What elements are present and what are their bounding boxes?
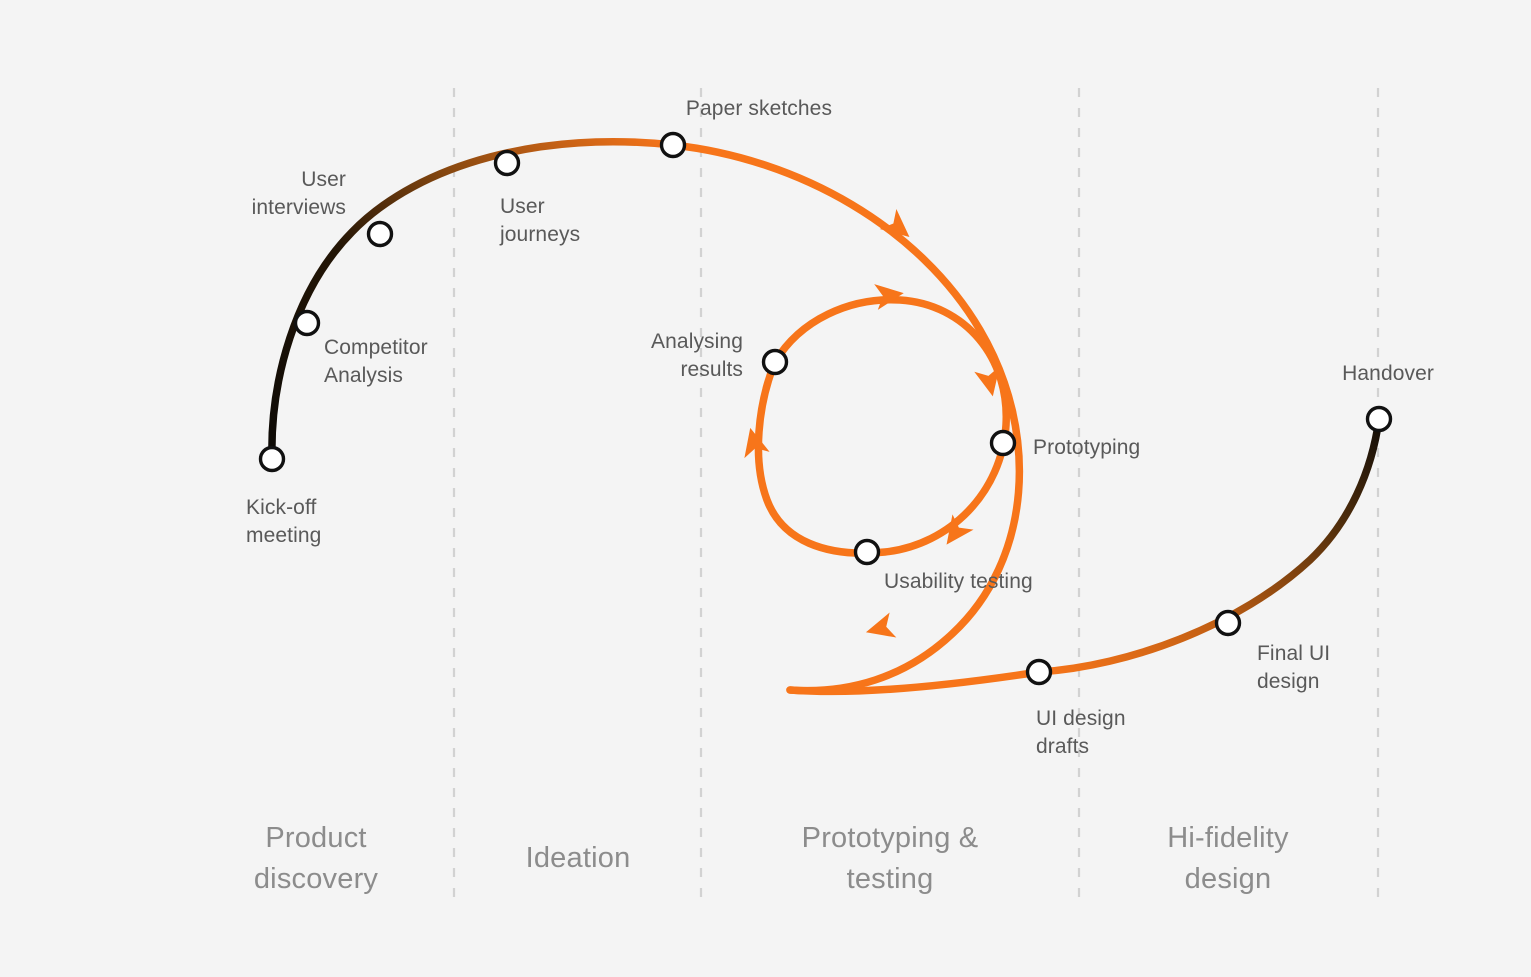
design-process-spiral-diagram: User interviews Competitor Analysis Kick… xyxy=(0,0,1531,977)
node-label-kick-off-meeting: Kick-off meeting xyxy=(246,494,321,550)
arrowhead-icon xyxy=(738,425,770,458)
spiral-segment-outer-lower xyxy=(790,672,1039,691)
node-user-interviews[interactable] xyxy=(369,223,392,246)
spiral-path-group xyxy=(272,142,1379,692)
phase-label-product-discovery: Product discovery xyxy=(254,818,378,900)
node-final-ui-design[interactable] xyxy=(1217,612,1240,635)
node-competitor-analysis[interactable] xyxy=(296,312,319,335)
node-label-prototyping: Prototyping xyxy=(1033,434,1140,462)
node-label-user-journeys: User journeys xyxy=(500,193,580,249)
node-usability-testing[interactable] xyxy=(856,541,879,564)
spiral-canvas xyxy=(0,0,1531,977)
node-prototyping[interactable] xyxy=(992,432,1015,455)
node-label-paper-sketches: Paper sketches xyxy=(686,95,832,123)
phase-label-prototyping-testing: Prototyping & testing xyxy=(802,818,979,900)
node-user-journeys[interactable] xyxy=(496,152,519,175)
node-kick-off-meeting[interactable] xyxy=(261,448,284,471)
node-label-ui-design-drafts: UI design drafts xyxy=(1036,705,1126,761)
phase-dividers xyxy=(454,88,1378,900)
spiral-segment-outer xyxy=(673,145,1019,691)
node-label-analysing-results: Analysing results xyxy=(651,328,743,384)
node-analysing-results[interactable] xyxy=(764,351,787,374)
node-ui-design-drafts[interactable] xyxy=(1028,661,1051,684)
node-label-usability-testing: Usability testing xyxy=(884,568,1033,596)
node-label-handover: Handover xyxy=(1342,360,1434,388)
node-paper-sketches[interactable] xyxy=(662,134,685,157)
spiral-segment-inner-loop xyxy=(758,300,1006,553)
node-handover[interactable] xyxy=(1368,408,1391,431)
phase-label-ideation: Ideation xyxy=(526,838,631,879)
phase-label-hi-fidelity-design: Hi-fidelity design xyxy=(1167,818,1288,900)
node-label-final-ui-design: Final UI design xyxy=(1257,640,1330,696)
node-label-competitor-analysis: Competitor Analysis xyxy=(324,334,428,390)
milestone-nodes xyxy=(261,134,1391,684)
node-label-user-interviews: User interviews xyxy=(252,166,346,222)
arrowhead-icon xyxy=(863,612,897,644)
arrowhead-icon xyxy=(874,280,905,310)
